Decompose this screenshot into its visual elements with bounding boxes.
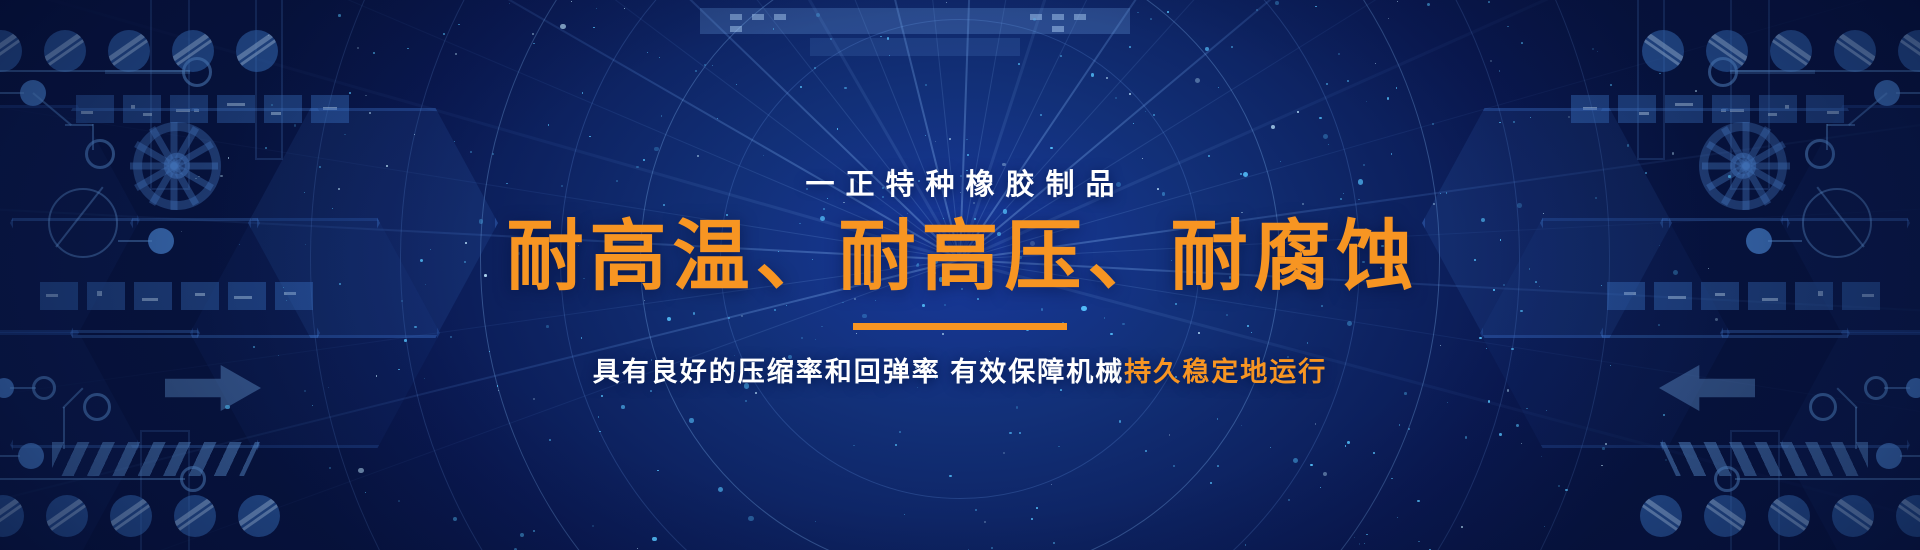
brand-subtitle: 一正特种橡胶制品 bbox=[805, 161, 1125, 203]
tagline-plain: 具有良好的压缩率和回弹率 有效保障机械 bbox=[593, 357, 1125, 387]
tagline: 具有良好的压缩率和回弹率 有效保障机械持久稳定地运行 bbox=[593, 350, 1328, 389]
title-divider bbox=[853, 323, 1067, 330]
hero-banner: 一正特种橡胶制品 耐高温、耐高压、耐腐蚀 具有良好的压缩率和回弹率 有效保障机械… bbox=[0, 0, 1920, 550]
hero-text-block: 一正特种橡胶制品 耐高温、耐高压、耐腐蚀 具有良好的压缩率和回弹率 有效保障机械… bbox=[0, 0, 1920, 550]
tagline-highlight: 持久稳定地运行 bbox=[1124, 357, 1327, 387]
page-title: 耐高温、耐高压、耐腐蚀 bbox=[507, 217, 1420, 299]
